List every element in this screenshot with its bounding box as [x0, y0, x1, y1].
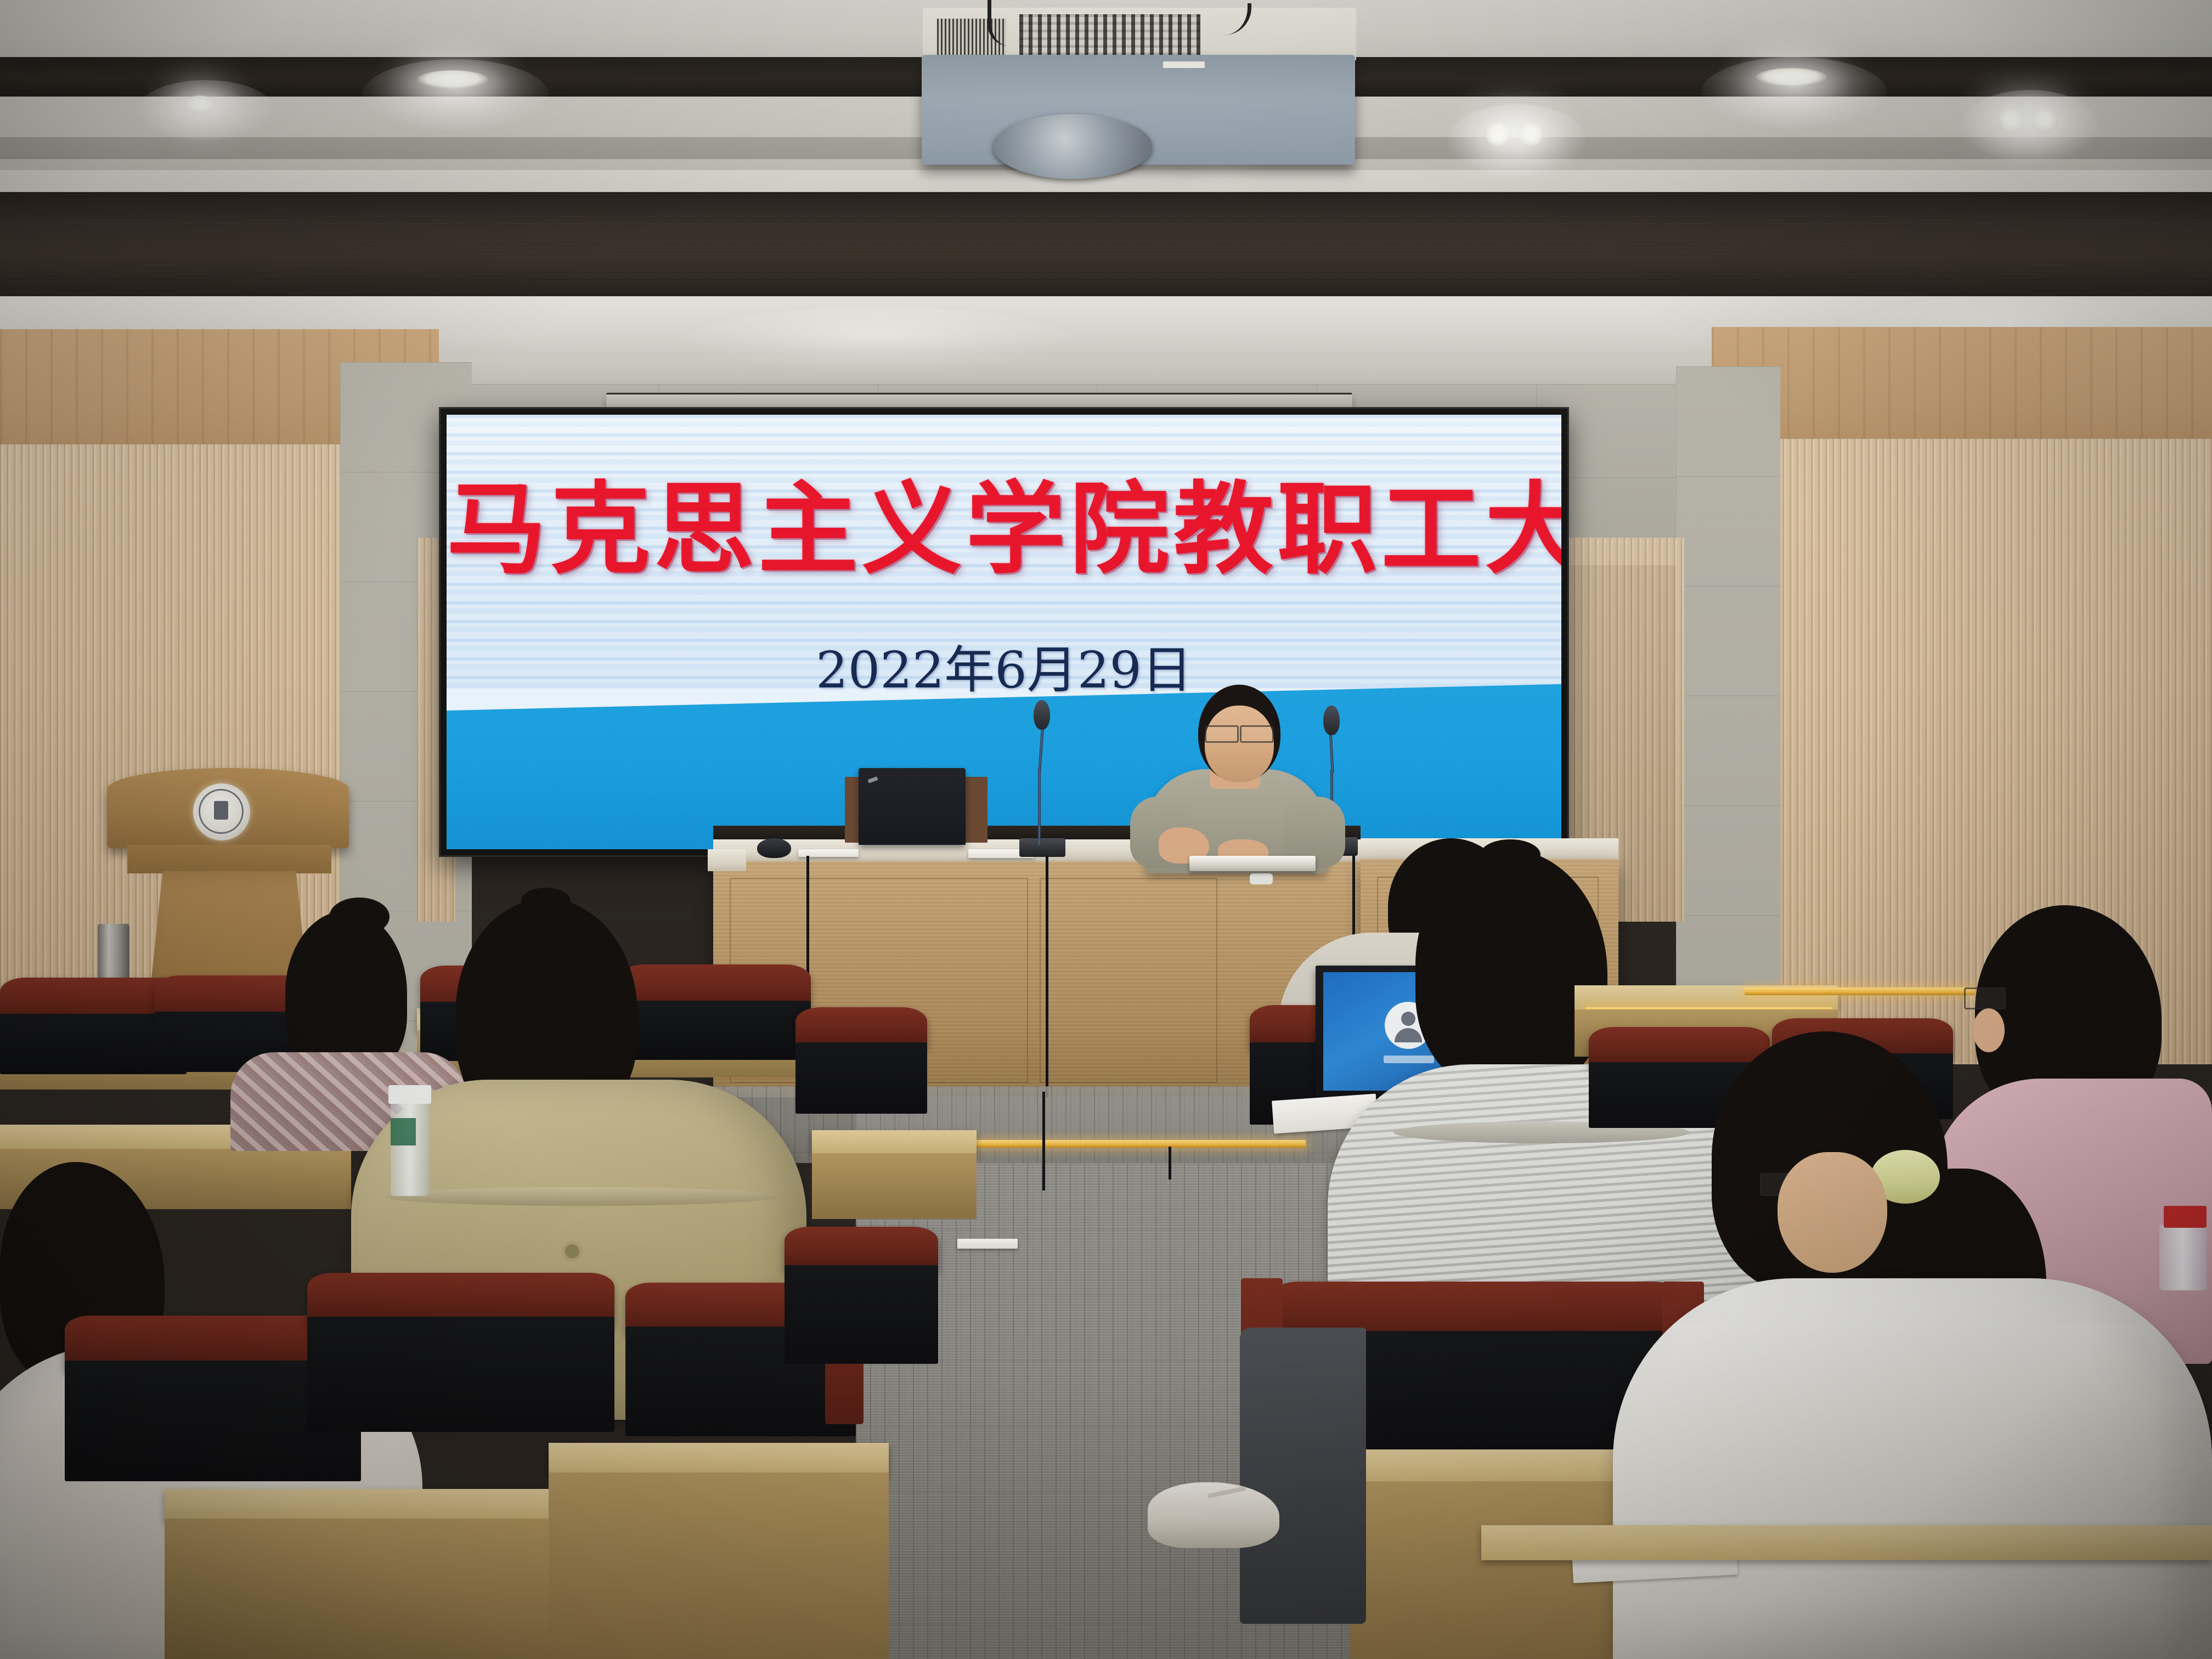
downlight-glow	[1448, 104, 1585, 176]
slide-background-lower	[447, 684, 1561, 849]
microphone-stem	[1038, 768, 1041, 845]
stage-table-front-panel	[1040, 878, 1217, 1083]
audience-desk-front-left-face	[165, 1519, 549, 1659]
attendee-2-hair-bun	[329, 898, 390, 936]
ceiling-wood-beam-band	[0, 192, 2212, 300]
emblem-shield	[214, 801, 228, 820]
conference-room-photo: 马克思主义学院教职工大会 2022年6月29日	[0, 0, 2212, 1659]
back-wall-panel-right	[1676, 366, 1780, 1047]
audience-desk	[812, 1130, 977, 1154]
login-username-text	[1384, 1056, 1434, 1063]
water-bottle-cap	[388, 1085, 431, 1104]
downlight-glow	[1701, 57, 1887, 128]
attendee-1-jacket-seam	[384, 1187, 779, 1206]
audience-desk-front	[549, 1472, 889, 1659]
water-bottle-right[interactable]	[2159, 1224, 2207, 1290]
audience-desk-right-front	[1481, 1525, 2212, 1560]
microphone-head	[1034, 700, 1050, 730]
speaker-eyeglasses-right	[1240, 725, 1274, 743]
auditorium-seat-back[interactable]	[1589, 1027, 1770, 1066]
auditorium-seat-cushion	[307, 1317, 614, 1432]
auditorium-seat-back[interactable]	[785, 1227, 938, 1271]
water-bottle-red-cap	[2164, 1206, 2207, 1228]
attendee-6-face	[1778, 1152, 1887, 1273]
attendee-2-head	[285, 911, 407, 1075]
audience-desk-front	[812, 1153, 977, 1219]
lectern-shelf	[127, 845, 331, 873]
attendee-7-ear	[1973, 1008, 2005, 1052]
speaker-face	[1205, 706, 1274, 782]
attendee-1-hair-tuft	[521, 888, 571, 914]
under-desk-led-strip	[1745, 988, 1975, 995]
water-bottle[interactable]	[391, 1097, 429, 1196]
speaker-eyeglasses	[1205, 725, 1239, 743]
attendee-7-eyeglasses	[1964, 988, 2006, 1009]
microphone-base	[1019, 838, 1065, 857]
water-bottle-label	[391, 1118, 416, 1145]
projector-brand-label	[1163, 61, 1205, 68]
projector-lens	[993, 114, 1152, 179]
av-cable-mic	[1004, 856, 1048, 1108]
downlight-glow	[362, 59, 549, 131]
ceiling-light-reflection	[686, 307, 1070, 373]
paper-on-floor	[957, 1239, 1018, 1249]
attendee-6-torso	[1613, 1278, 2212, 1659]
projector-power-cable	[988, 0, 1030, 46]
downlight-glow	[137, 80, 274, 140]
attendee-leg-trousers	[1240, 1328, 1366, 1624]
computer-mouse[interactable]	[757, 838, 791, 858]
downlight-glow	[1961, 90, 2098, 161]
slide-date: 2022年6月29日	[447, 645, 1561, 696]
slide-title: 马克思主义学院教职工大会	[447, 479, 1561, 579]
projection-screen-frame: 马克思主义学院教职工大会 2022年6月29日	[439, 407, 1569, 857]
auditorium-seat-cushion	[619, 1001, 811, 1060]
audience-desk-front-left	[165, 1489, 549, 1522]
speaker-wristwatch	[1250, 873, 1273, 884]
speaker-open-notebook	[1189, 856, 1316, 871]
projection-screen: 马克思主义学院教职工大会 2022年6月29日	[447, 415, 1561, 849]
auditorium-seat-cushion	[795, 1042, 927, 1114]
login-avatar-head	[1401, 1012, 1415, 1026]
stage-table-surface-left	[708, 849, 746, 871]
auditorium-seat-cushion	[785, 1265, 938, 1364]
attendee-4-hair-tuft	[1480, 839, 1541, 870]
university-crest-emblem	[193, 783, 250, 840]
auditorium-seat-back[interactable]	[795, 1007, 927, 1048]
microphone-head-speaker	[1323, 706, 1340, 735]
audience-desk	[549, 1443, 889, 1476]
attendee-1-jacket-button	[565, 1244, 579, 1259]
